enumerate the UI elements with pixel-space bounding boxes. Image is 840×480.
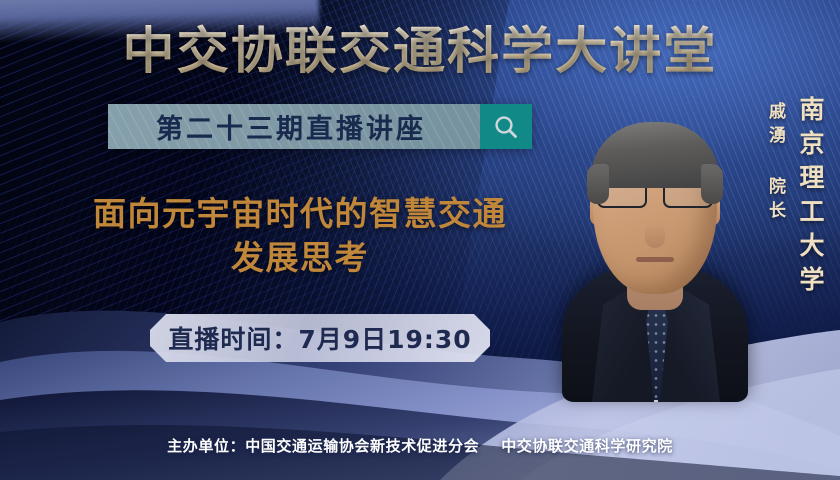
headline-line-1: 面向元宇宙时代的智慧交通 (40, 192, 560, 236)
episode-label: 第二十三期直播讲座 (108, 104, 480, 149)
search-icon (492, 113, 520, 141)
portrait-nose (645, 222, 665, 248)
portrait-mouth (636, 257, 674, 262)
organizers-footer: 主办单位：中国交通运输协会新技术促进分会中交协联交通科学研究院 (0, 435, 840, 456)
speaker-name-title: 戚湧 院长 (763, 102, 788, 225)
organizer-prefix: 主办单位： (167, 437, 245, 455)
portrait-hair (591, 122, 719, 188)
speaker-portrait (560, 52, 750, 402)
broadcast-time-badge: 直播时间：7月9日19:30 (150, 314, 490, 362)
speaker-affiliation: 南京理工大学 (792, 96, 828, 300)
episode-banner: 第二十三期直播讲座 (108, 104, 532, 149)
lecture-headline: 面向元宇宙时代的智慧交通 发展思考 (40, 192, 560, 280)
live-lecture-poster: 中交协联交通科学大讲堂 第二十三期直播讲座 面向元宇宙时代的智慧交通 发展思考 … (0, 0, 840, 480)
search-icon-box[interactable] (480, 104, 532, 149)
main-title: 中交协联交通科学大讲堂 (0, 20, 840, 82)
headline-line-2: 发展思考 (40, 236, 560, 280)
broadcast-time-label: 直播时间：7月9日19:30 (168, 320, 471, 356)
organizer-name-1: 中国交通运输协会新技术促进分会 (245, 437, 479, 455)
organizer-name-2: 中交协联交通科学研究院 (501, 437, 673, 455)
